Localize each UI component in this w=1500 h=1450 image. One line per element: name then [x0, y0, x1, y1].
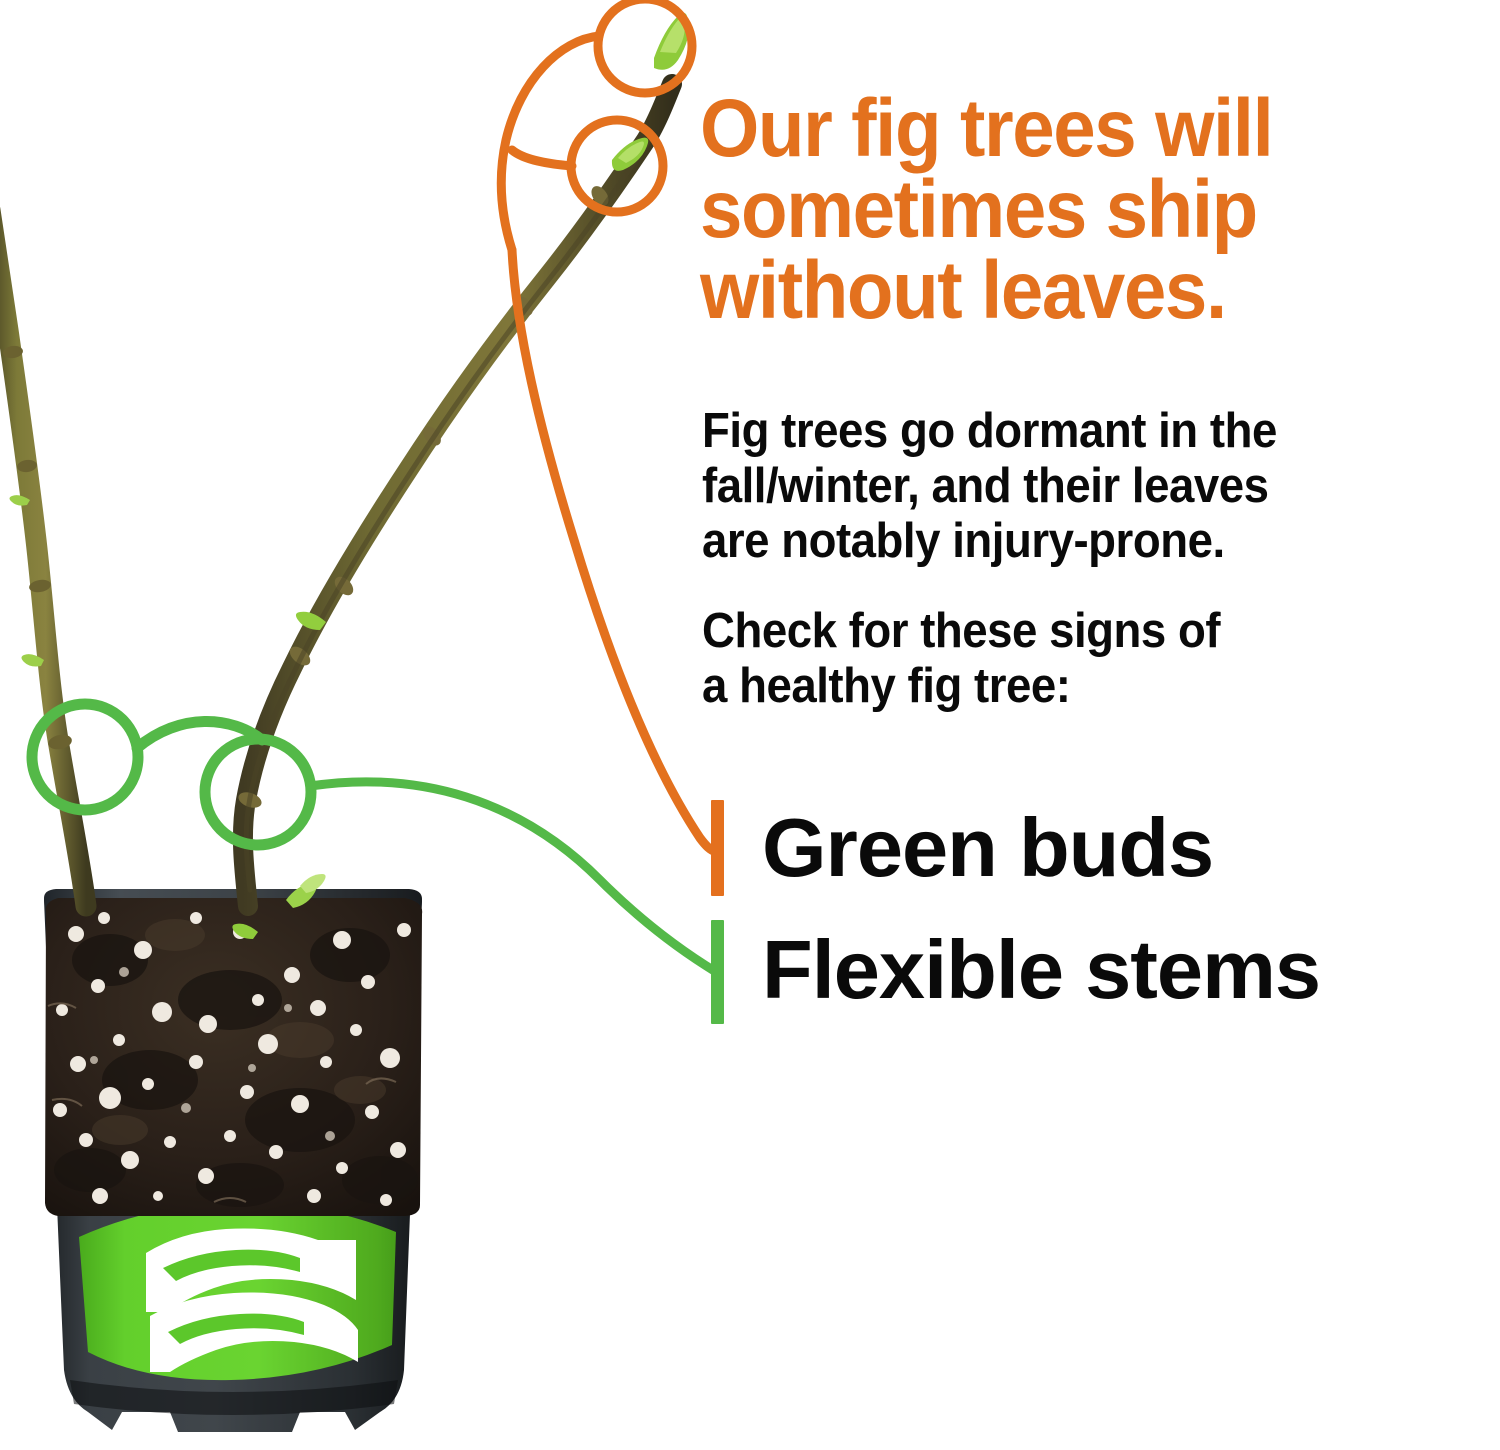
- infographic-root: Our fig trees will sometimes ship withou…: [0, 0, 1500, 1450]
- callout-marker-green-buds: [711, 800, 724, 896]
- soil-surface: [40, 890, 430, 1225]
- orange-connector-lower: [512, 150, 572, 166]
- callout-marker-flexible-stems: [711, 920, 724, 1024]
- body-paragraph-1: Fig trees go dormant in the fall/winter,…: [702, 404, 1390, 569]
- orange-leader-line: [512, 250, 716, 852]
- stem-buds: [232, 13, 688, 939]
- callout-label-green-buds: Green buds: [762, 806, 1213, 889]
- orange-annotation-group: [501, 0, 716, 852]
- page-headline: Our fig trees will sometimes ship withou…: [700, 88, 1435, 332]
- body-paragraph-2: Check for these signs of a healthy fig t…: [702, 604, 1390, 714]
- stem-left: [0, 210, 86, 906]
- fig-tree-stems: [0, 13, 689, 939]
- green-circle-left: [32, 704, 138, 810]
- callout-label-flexible-stems: Flexible stems: [762, 928, 1320, 1011]
